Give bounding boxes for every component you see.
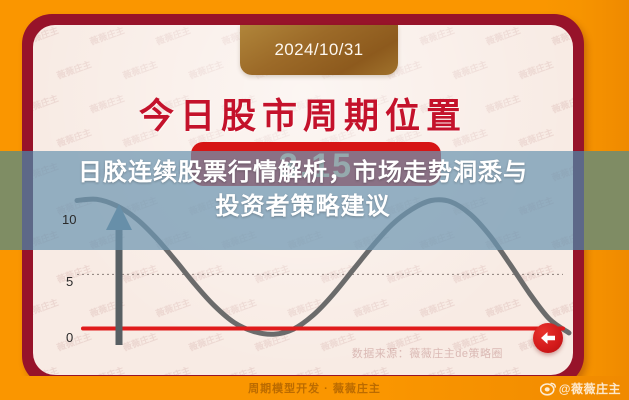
- caption-overlay-band: 日胶连续股票行情解析，市场走势洞悉与 投资者策略建议: [0, 151, 629, 250]
- watermark-text: 薇薇庄主: [154, 363, 192, 375]
- watermark-text: 薇薇庄主: [451, 57, 489, 82]
- watermark-text: 薇薇庄主: [418, 25, 456, 48]
- watermark-text: 薇薇庄主: [121, 57, 159, 82]
- watermark-text: 薇薇庄主: [484, 363, 522, 375]
- y-tick-label-5: 5: [66, 274, 73, 289]
- back-circle-button[interactable]: [533, 323, 563, 353]
- arrow-left-icon: [539, 331, 557, 345]
- y-tick-label-0: 0: [66, 330, 73, 345]
- y-tick-label-10: 10: [62, 212, 76, 227]
- screenshot-root: 薇薇庄主薇薇庄主薇薇庄主薇薇庄主薇薇庄主薇薇庄主薇薇庄主薇薇庄主薇薇庄主薇薇庄主…: [0, 0, 629, 400]
- date-badge: 2024/10/31: [240, 25, 398, 75]
- watermark-text: 薇薇庄主: [187, 57, 225, 82]
- watermark-text: 薇薇庄主: [418, 363, 456, 375]
- ribbon-label: 周期模型开发 · 薇薇庄主: [248, 380, 381, 396]
- overlay-left-segment: [0, 151, 22, 250]
- weibo-logo-icon: [540, 382, 556, 396]
- watermark-text: 薇薇庄主: [55, 57, 93, 82]
- watermark-text: 薇薇庄主: [88, 363, 126, 375]
- overlay-right-segment: [584, 151, 629, 250]
- bottom-ribbon: 周期模型开发 · 薇薇庄主: [0, 376, 629, 400]
- page-title: 今日股市周期位置: [33, 88, 573, 139]
- watermark-text: 薇薇庄主: [154, 25, 192, 48]
- caption-line-1: 日胶连续股票行情解析，市场走势洞悉与: [78, 159, 528, 186]
- watermark-text: 薇薇庄主: [484, 25, 522, 48]
- caption-text: 日胶连续股票行情解析，市场走势洞悉与 投资者策略建议: [33, 156, 573, 224]
- watermark-text: 薇薇庄主: [286, 363, 324, 375]
- watermark-text: 薇薇庄主: [352, 363, 390, 375]
- weibo-credit[interactable]: @薇薇庄主: [540, 380, 621, 397]
- caption-line-2: 投资者策略建议: [33, 190, 573, 224]
- watermark-text: 薇薇庄主: [220, 363, 258, 375]
- source-note: 数据来源：薇薇庄主de策略圈: [0, 345, 573, 361]
- watermark-text: 薇薇庄主: [88, 25, 126, 48]
- overlay-left-inner-segment: [22, 151, 33, 250]
- watermark-text: 薇薇庄主: [517, 57, 555, 82]
- date-badge-label: 2024/10/31: [274, 40, 363, 60]
- weibo-handle: @薇薇庄主: [559, 380, 621, 397]
- overlay-right-inner-segment: [573, 151, 584, 250]
